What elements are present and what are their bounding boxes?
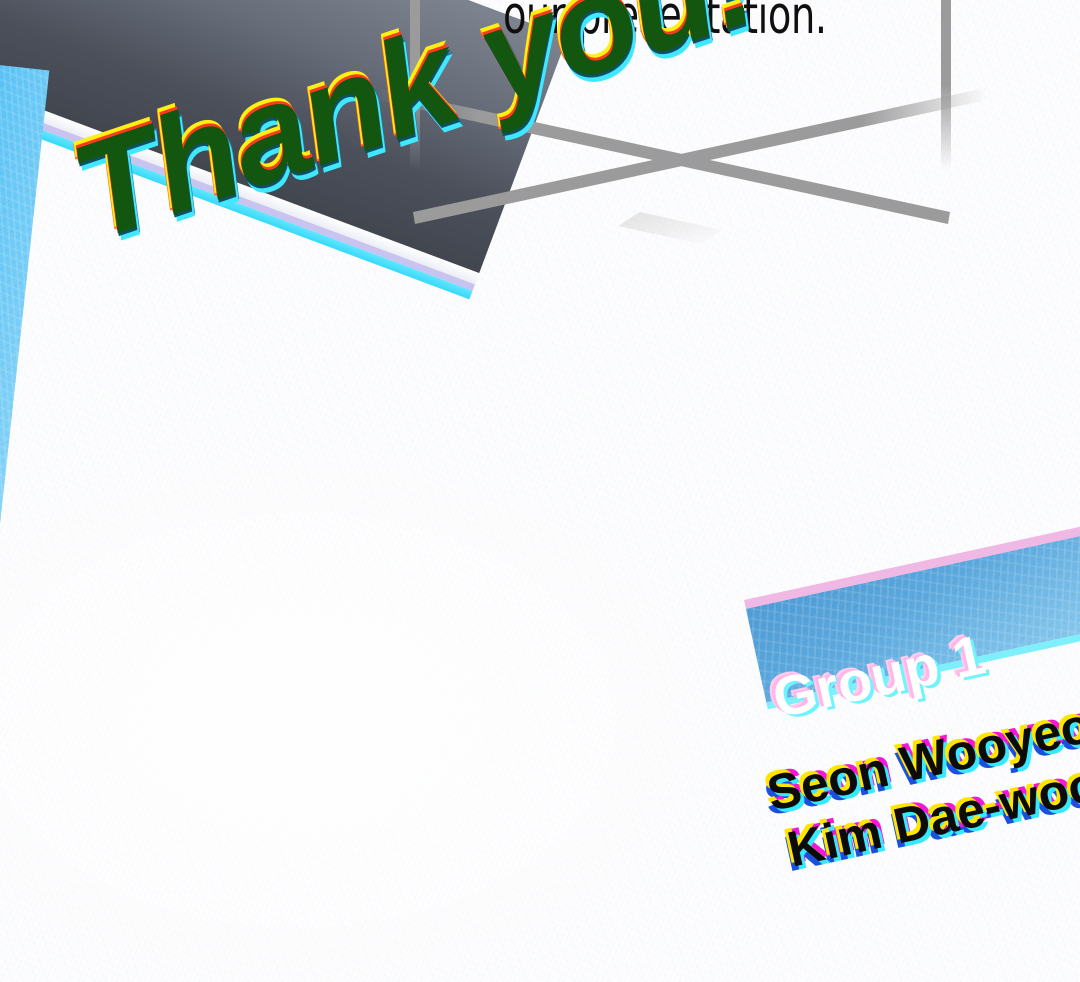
left-blue-banner <box>0 58 49 540</box>
chevron-right-vertical <box>941 0 951 170</box>
chevron-ghost-tail <box>618 212 722 244</box>
presentation-slide: our presentation. Thank you! Group 1 Seo… <box>0 0 1080 982</box>
